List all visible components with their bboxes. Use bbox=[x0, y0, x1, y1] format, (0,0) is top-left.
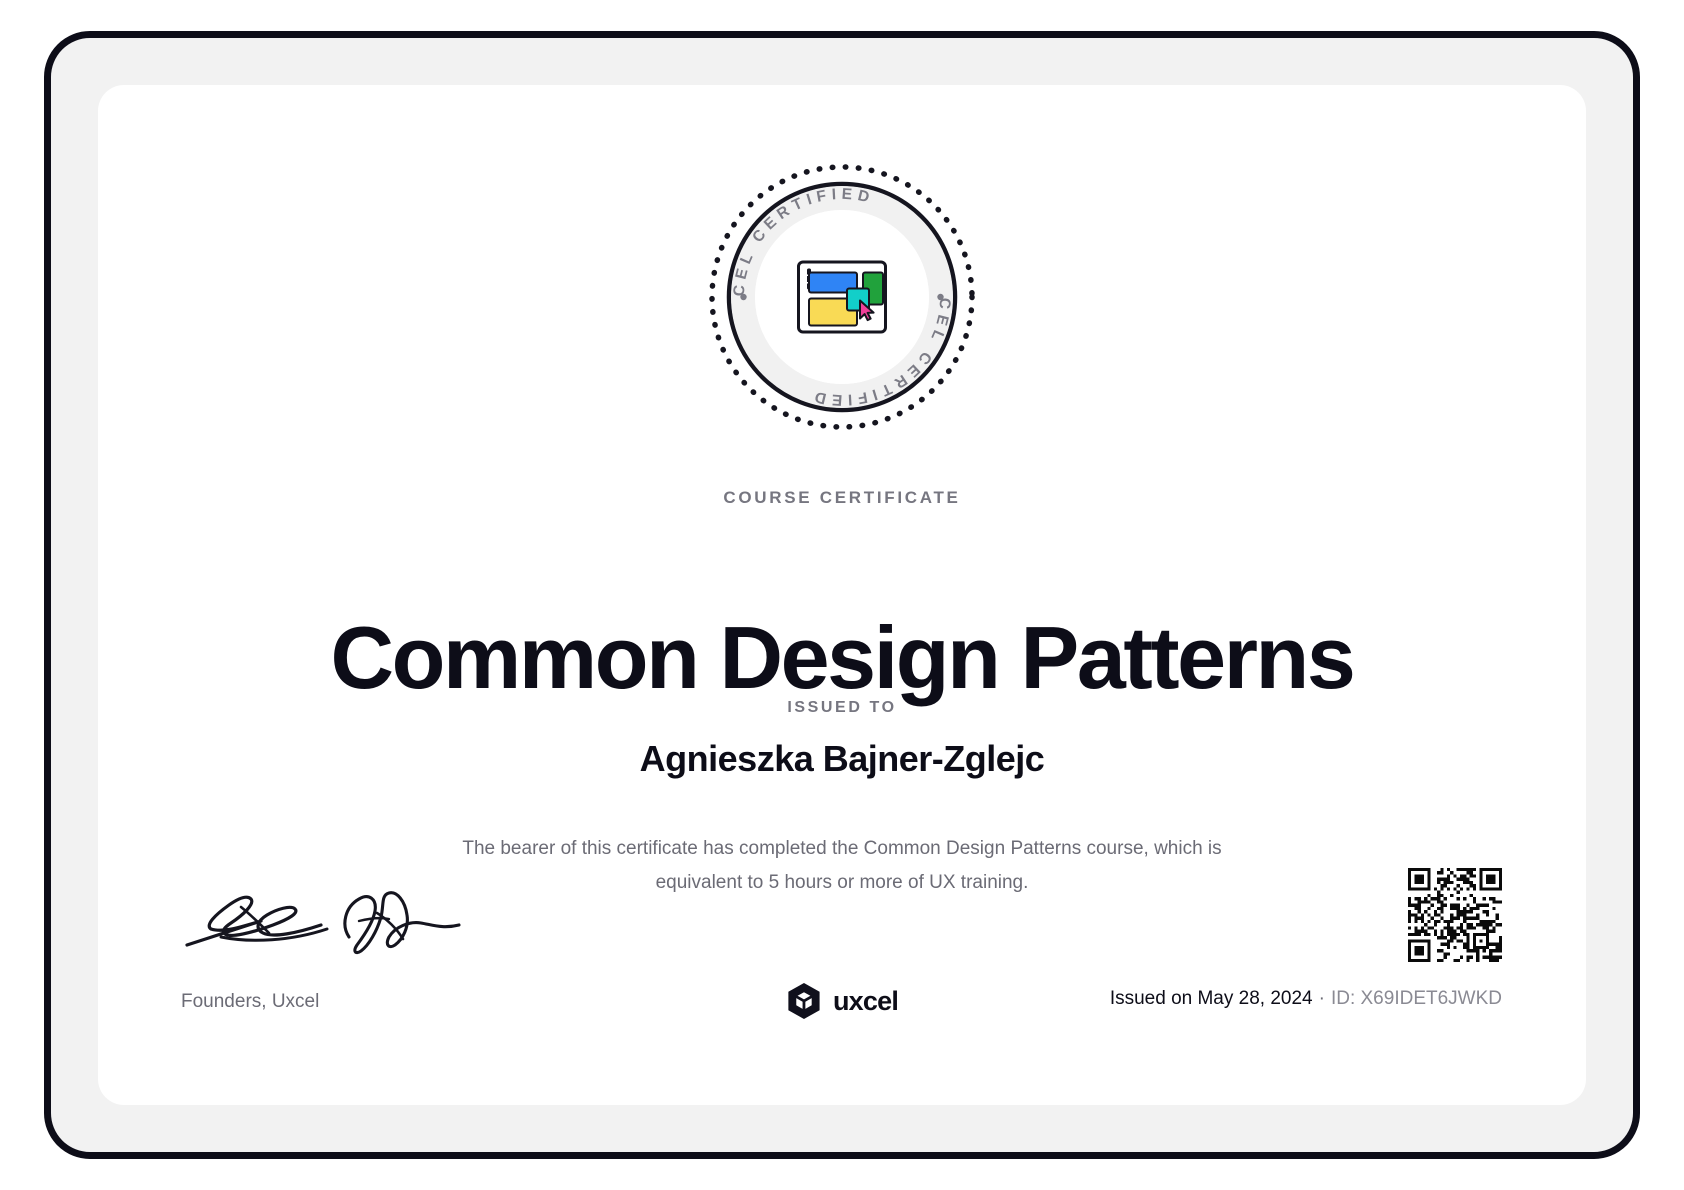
uxcel-brand-lockup: uxcel bbox=[786, 982, 898, 1020]
certificate-card: UXCEL CERTIFIED UXCEL CERTIFIED bbox=[98, 85, 1586, 1105]
cursor-pointer-icon bbox=[858, 300, 876, 322]
certificate-description: The bearer of this certificate has compl… bbox=[442, 832, 1242, 900]
seal-bullet-left bbox=[740, 294, 746, 300]
signature-caption: Founders, Uxcel bbox=[181, 991, 319, 1013]
seal-bullet-right bbox=[937, 294, 943, 300]
course-title: Common Design Patterns bbox=[98, 614, 1586, 702]
issue-date: Issued on May 28, 2024 bbox=[1110, 988, 1313, 1009]
qr-code-image bbox=[1408, 868, 1502, 962]
uxcel-cube-logo-icon bbox=[786, 982, 822, 1020]
recipient-name: Agnieszka Bajner-Zglejc bbox=[98, 738, 1586, 780]
certificate-frame: UXCEL CERTIFIED UXCEL CERTIFIED bbox=[44, 31, 1640, 1159]
uxcel-wordmark: uxcel bbox=[833, 986, 898, 1017]
meta-separator: · bbox=[1313, 988, 1331, 1009]
verification-qr-code[interactable] bbox=[1408, 868, 1502, 962]
certificate-meta: Issued on May 28, 2024·ID: X69IDET6JWKD bbox=[1110, 988, 1502, 1010]
certificate-id: ID: X69IDET6JWKD bbox=[1331, 988, 1502, 1009]
uxcel-certified-seal: UXCEL CERTIFIED UXCEL CERTIFIED bbox=[706, 161, 978, 433]
issued-to-label: ISSUED TO bbox=[98, 699, 1586, 717]
certificate-type-label: COURSE CERTIFICATE bbox=[98, 488, 1586, 508]
signature-ink bbox=[181, 885, 481, 965]
founder-signatures bbox=[181, 885, 481, 965]
design-patterns-mock-icon bbox=[797, 261, 887, 334]
